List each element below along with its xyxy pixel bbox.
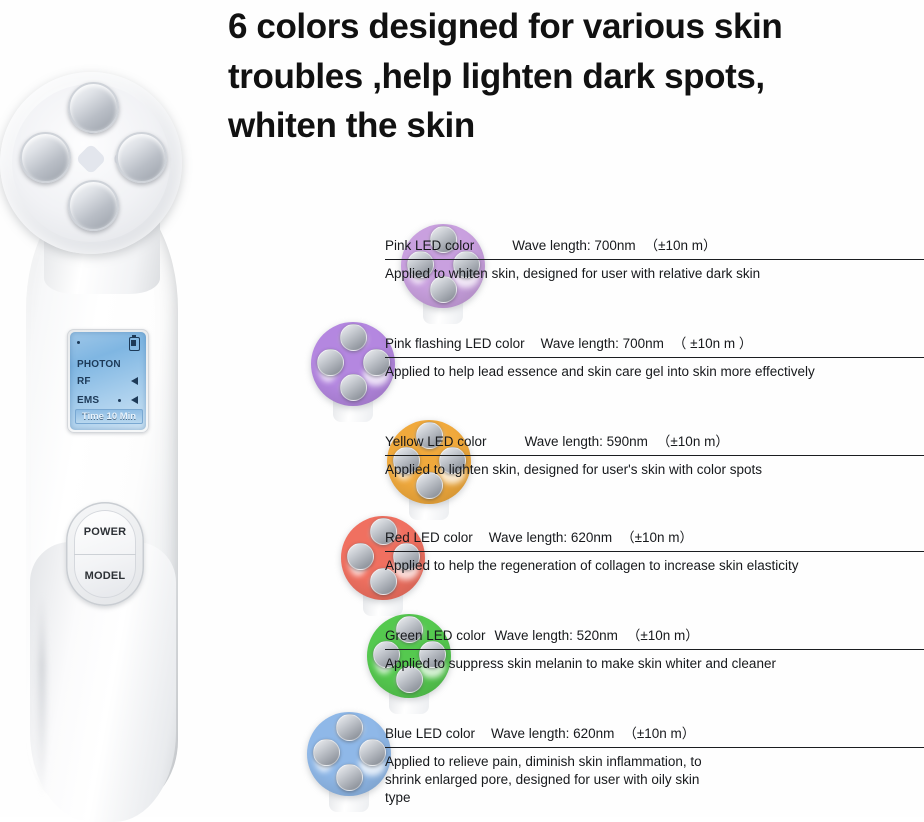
led-wavelength-tolerance: （±10n m） [657,434,729,449]
led-wavelength-tolerance: （±10n m） [621,530,693,545]
lcd-screen-bezel: PHOTON RF EMS Time 10 Min [67,329,149,433]
electrode-right [359,739,386,766]
led-wavelength-tolerance: （±10n m） [645,238,717,253]
device-head [0,72,182,254]
led-wavelength: Wave length: 520nm [495,628,618,643]
led-wavelength-tolerance: （ ±10n m ） [673,336,752,351]
led-pad-center [75,143,106,174]
battery-icon [129,337,140,351]
led-color-text-block: Pink flashing LED colorWave length: 700n… [385,332,924,381]
page-title: 6 colors designed for various skin troub… [228,2,924,151]
led-color-title-line: Yellow LED colorWave length: 590nm（±10n … [385,430,924,455]
lcd-mode-photon: PHOTON [77,360,121,370]
led-color-name: Blue LED color [385,726,475,741]
led-color-text-block: Yellow LED colorWave length: 590nm（±10n … [385,430,924,479]
model-button[interactable]: MODEL [74,555,136,599]
led-color-title-line: Pink LED colorWave length: 700nm（±10n m） [385,234,924,259]
led-color-text-block: Green LED colorWave length: 520nm（±10n m… [385,624,924,673]
led-color-list: Pink LED colorWave length: 700nm（±10n m）… [285,222,924,817]
electrode-top [340,324,367,351]
headline-line-1: 6 colors designed for various skin [228,2,924,52]
led-color-description: Applied to lighten skin, designed for us… [385,456,924,479]
led-color-title-line: Pink flashing LED colorWave length: 700n… [385,332,924,357]
led-color-row: Red LED colorWave length: 620nm（±10n m）A… [285,514,924,614]
control-button-inner: POWER MODEL [74,510,136,598]
led-color-description: Applied to help lead essence and skin ca… [385,358,924,381]
electrode-bottom [68,180,119,231]
ems-level-icon [131,396,138,404]
electrode-left [313,739,340,766]
led-wavelength: Wave length: 700nm [512,238,635,253]
led-color-name: Pink flashing LED color [385,336,525,351]
led-color-row: Blue LED colorWave length: 620nm（±10n m）… [285,710,924,810]
headline-line-2: troubles ,help lighten dark spots, [228,52,924,102]
led-wavelength-tolerance: （±10n m） [623,726,695,741]
led-color-description: Applied to suppress skin melanin to make… [385,650,924,673]
led-head-thumbnail [303,710,395,810]
led-head-disc [311,322,395,406]
led-wavelength: Wave length: 700nm [541,336,664,351]
led-head-disc [307,712,391,796]
device-head-face [12,84,170,242]
led-color-title-line: Red LED colorWave length: 620nm（±10n m） [385,526,924,551]
led-color-text-block: Blue LED colorWave length: 620nm（±10n m）… [385,722,924,807]
electrode-left [20,132,71,183]
electrode-left [347,543,374,570]
power-button[interactable]: POWER [74,510,136,555]
product-device-photo: PHOTON RF EMS Time 10 Min POWER MODEL [0,72,232,817]
infographic-canvas: 6 colors designed for various skin troub… [0,0,924,817]
led-color-row: Pink flashing LED colorWave length: 700n… [285,320,924,420]
led-wavelength-tolerance: （±10n m） [627,628,699,643]
lcd-indicator-dot-icon [77,341,80,344]
rf-level-icon [131,377,138,385]
led-color-name: Green LED color [385,628,486,643]
led-color-name: Yellow LED color [385,434,487,449]
led-color-description: Applied to relieve pain, diminish skin i… [385,748,715,806]
electrode-right [116,132,167,183]
lcd-timer-value: Time 10 Min [75,409,143,424]
led-color-row: Green LED colorWave length: 520nm（±10n m… [285,612,924,712]
lcd-mode-rf: RF [77,377,91,387]
led-wavelength: Wave length: 620nm [489,530,612,545]
led-color-name: Red LED color [385,530,473,545]
control-button-cluster: POWER MODEL [66,502,144,606]
device-edge-shading [38,592,46,802]
electrode-left [317,349,344,376]
led-color-description: Applied to whiten skin, designed for use… [385,260,924,283]
led-color-row: Pink LED colorWave length: 700nm（±10n m）… [285,222,924,322]
headline-line-3: whiten the skin [228,101,924,151]
led-wavelength: Wave length: 590nm [525,434,648,449]
electrode-top [68,82,119,133]
electrode-top [336,714,363,741]
led-color-title-line: Blue LED colorWave length: 620nm（±10n m） [385,722,924,747]
lcd-screen: PHOTON RF EMS Time 10 Min [70,332,146,430]
electrode-bottom [340,374,367,401]
electrode-bottom [336,764,363,791]
led-color-row: Yellow LED colorWave length: 590nm（±10n … [285,418,924,518]
led-wavelength: Wave length: 620nm [491,726,614,741]
lcd-mode-ems: EMS [77,396,99,406]
led-color-title-line: Green LED colorWave length: 520nm（±10n m… [385,624,924,649]
led-color-text-block: Pink LED colorWave length: 700nm（±10n m）… [385,234,924,283]
led-color-description: Applied to help the regeneration of coll… [385,552,924,575]
led-color-text-block: Red LED colorWave length: 620nm（±10n m）A… [385,526,924,575]
led-color-name: Pink LED color [385,238,474,253]
